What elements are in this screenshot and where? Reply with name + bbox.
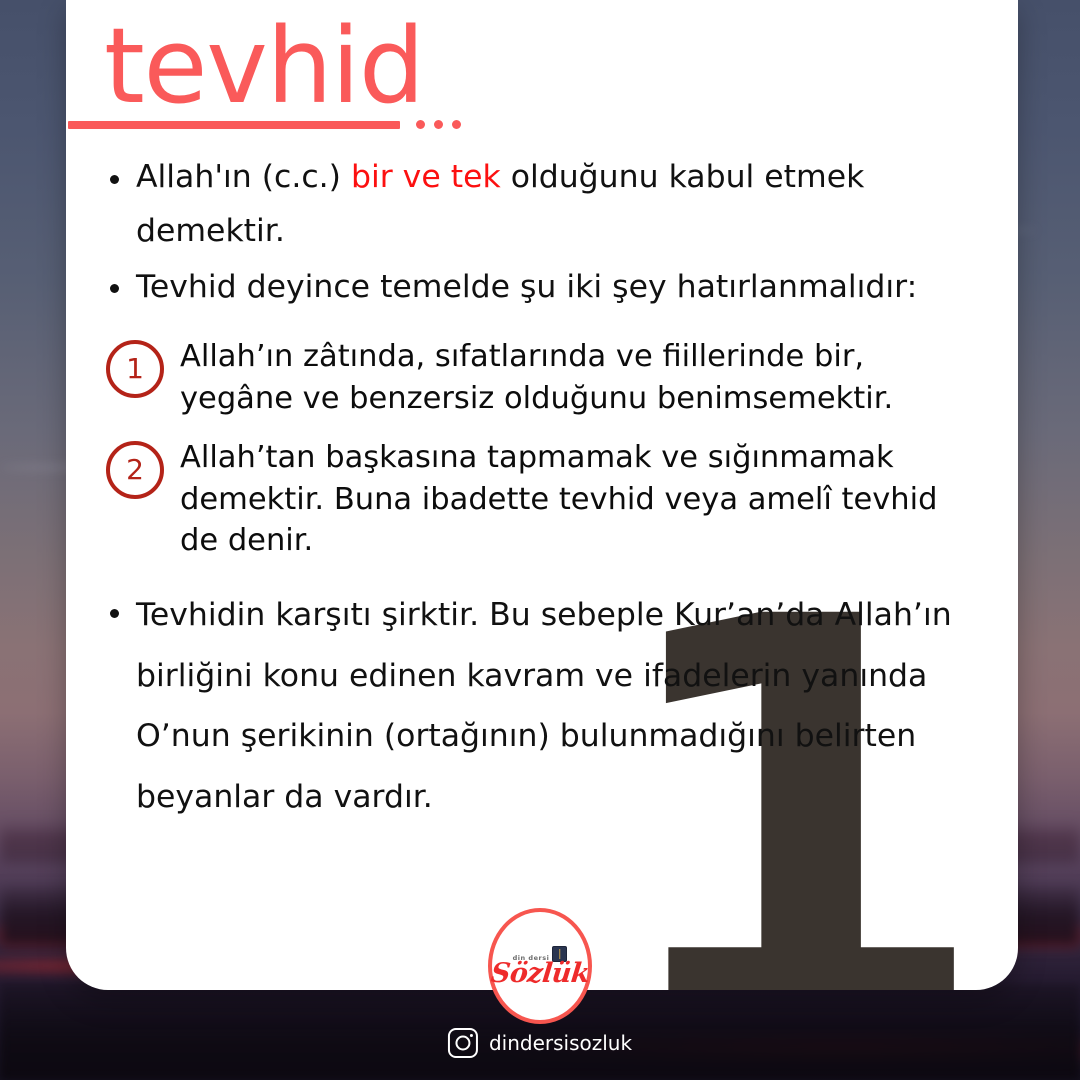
divider-line	[68, 121, 400, 129]
number-badge-2: 2	[106, 441, 164, 499]
divider-dot	[452, 120, 461, 129]
list-item: Tevhidin karşıtı şirktir. Bu sebeple Kur…	[102, 585, 974, 827]
bullet-list-top: Allah'ın (c.c.) bir ve tek olduğunu kabu…	[66, 151, 1018, 314]
numbered-item: 2 Allah’tan başkasına tapmamak ve sığınm…	[106, 435, 984, 561]
numbered-item-text: Allah’tan başkasına tapmamak ve sığınmam…	[180, 435, 984, 561]
bullet-text: Tevhidin karşıtı şirktir. Bu sebeple Kur…	[136, 597, 952, 814]
number-badge-1: 1	[106, 340, 164, 398]
bullet-text-highlight: bir ve tek	[351, 159, 501, 195]
numbered-item: 1 Allah’ın zâtında, sıfatlarında ve fiil…	[106, 334, 984, 419]
bullet-text-before: Allah'ın (c.c.)	[136, 159, 351, 195]
list-item: Allah'ın (c.c.) bir ve tek olduğunu kabu…	[102, 151, 974, 258]
card-content: tevhid Allah'ın (c.c.) bir ve tek olduğu…	[66, 0, 1018, 827]
numbered-list: 1 Allah’ın zâtında, sıfatlarında ve fiil…	[66, 334, 1018, 561]
bullet-list-bottom: Tevhidin karşıtı şirktir. Bu sebeple Kur…	[66, 585, 1018, 827]
brand-logo: din dersi Sözlük	[488, 908, 592, 1024]
content-card: 1 tevhid Allah'ın (c.c.) bir ve tek oldu…	[66, 0, 1018, 990]
title-divider	[66, 120, 1018, 129]
divider-dot	[416, 120, 425, 129]
divider-dots-icon	[416, 120, 461, 129]
instagram-icon[interactable]	[448, 1028, 478, 1058]
page-title: tevhid	[66, 0, 1018, 124]
bullet-text-before: Tevhid deyince temelde şu iki şey hatırl…	[136, 269, 917, 305]
divider-dot	[434, 120, 443, 129]
instagram-handle[interactable]: dindersisozluk	[448, 1028, 632, 1058]
list-item: Tevhid deyince temelde şu iki şey hatırl…	[102, 261, 974, 315]
logo-wordmark: Sözlük	[489, 960, 590, 987]
numbered-item-text: Allah’ın zâtında, sıfatlarında ve fiille…	[180, 334, 984, 419]
instagram-handle-text: dindersisozluk	[489, 1031, 632, 1055]
